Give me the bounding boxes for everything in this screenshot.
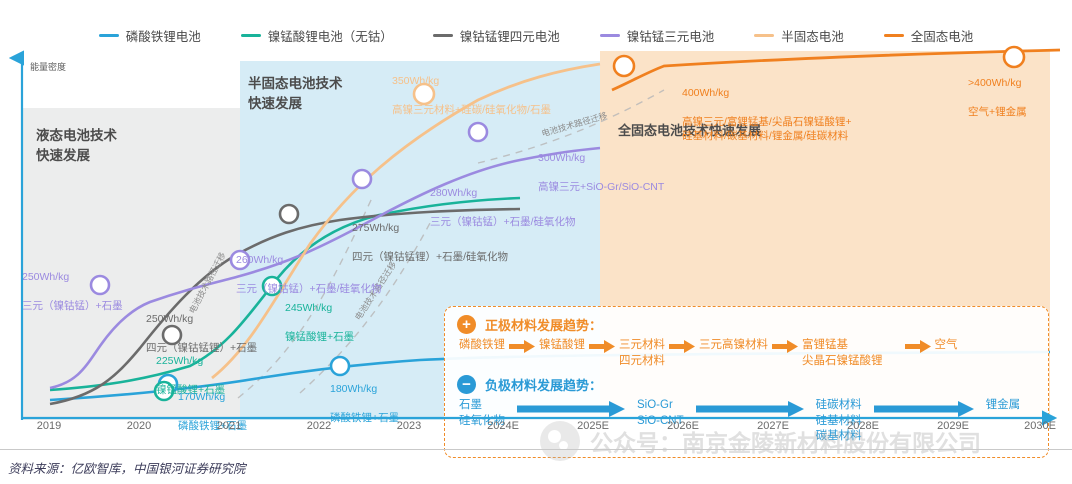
legend-swatch-allsolid xyxy=(884,34,904,37)
point-label-semisolid-2024: 350Wh/kg 高镍三元材料+硅碳/硅氧化物/石墨 xyxy=(392,60,551,131)
cathode-step-5: 富锂锰基 尖晶石镍锰酸锂 xyxy=(802,338,883,369)
legend-item-quaternary[interactable]: 镍钴锰锂四元电池 xyxy=(433,26,560,45)
point-material-ncm-2025: 高镍三元+SiO-Gr/SiO-CNT xyxy=(538,180,664,194)
x-tick-2021: 2021 xyxy=(217,420,241,432)
cathode-step-3: 三元材料 四元材料 xyxy=(619,338,665,369)
legend-swatch-quaternary xyxy=(433,34,453,37)
point-material-ncm-2023: 三元（镍钴锰）+石墨/硅氧化物 xyxy=(430,215,576,229)
point-value-lfp-2024: 180Wh/kg xyxy=(330,382,399,396)
anode-trend-title: 负极材料发展趋势： xyxy=(485,375,602,394)
arrow-right-icon-c2 xyxy=(589,340,615,358)
point-material-semisolid-2024: 高镍三元材料+硅碳/硅氧化物/石墨 xyxy=(392,103,551,117)
legend-label-lnmo: 镍锰酸锂电池（无钴） xyxy=(268,26,393,45)
cathode-trend-header: + 正极材料发展趋势： xyxy=(457,315,1036,334)
minus-icon: − xyxy=(457,375,476,394)
x-tick-2026E: 2026E xyxy=(667,420,699,432)
legend-swatch-lnmo xyxy=(241,34,261,37)
point-value-lnmo-2021: 225Wh/kg xyxy=(156,354,225,368)
point-value-allsolid-2026: 400Wh/kg xyxy=(682,86,851,100)
x-tick-2028E: 2028E xyxy=(847,420,879,432)
point-label-allsolid-2030: >400Wh/kg 空气+锂金属 xyxy=(968,62,1027,133)
arrow-right-icon-c5 xyxy=(905,340,931,358)
legend-label-allsolid: 全固态电池 xyxy=(911,26,974,45)
point-value-semisolid-2024: 350Wh/kg xyxy=(392,74,551,88)
point-material-allsolid-2030: 空气+锂金属 xyxy=(968,105,1027,119)
point-material-lnmo-2022: 镍锰酸锂+石墨 xyxy=(285,330,354,344)
point-value-lnmo-2022: 245Wh/kg xyxy=(285,301,354,315)
arrow-right-icon-c4 xyxy=(772,340,798,358)
point-material-allsolid-2026: 高镍三元/富锂锰基/尖晶石镍锰酸锂+ 硅基材料/碳基材料/锂金属/硅碳材料 xyxy=(682,115,851,143)
point-value-quaternary-2021: 250Wh/kg xyxy=(146,312,257,326)
x-tick-2024E: 2024E xyxy=(487,420,519,432)
legend-item-allsolid[interactable]: 全固态电池 xyxy=(884,26,974,45)
x-tick-2027E: 2027E xyxy=(757,420,789,432)
arrow-right-icon-c1 xyxy=(509,340,535,358)
legend-item-lnmo[interactable]: 镍锰酸锂电池（无钴） xyxy=(241,26,393,45)
legend-swatch-semisolid xyxy=(754,34,774,37)
point-value-allsolid-2030: >400Wh/kg xyxy=(968,76,1027,90)
cathode-chain: 磷酸铁锂 镍锰酸锂 三元材料 四元材料 三元高镍材料 富锂锰基 尖晶石镍锰酸锂 xyxy=(459,338,1036,369)
y-axis-label: 能量密度 xyxy=(30,60,66,73)
cathode-step-2: 镍锰酸锂 xyxy=(539,338,585,354)
plot-area: 液态电池技术 快速发展 半固态电池技术 快速发展 全固态电池技术快速发展 xyxy=(0,48,1072,420)
legend-swatch-ncm xyxy=(600,34,620,37)
point-material-quaternary-2022: 四元（镍钴锰锂）+石墨/硅氧化物 xyxy=(352,250,508,264)
legend-label-lfp: 磷酸铁锂电池 xyxy=(126,26,201,45)
marker-allsolid-2026 xyxy=(614,56,634,76)
chart-legend: 磷酸铁锂电池 镍锰酸锂电池（无钴） 镍钴锰锂四元电池 镍钴锰三元电池 半固态电池… xyxy=(0,22,1072,48)
x-tick-2023: 2023 xyxy=(397,420,421,432)
source-note: 资料来源：亿欧智库，中国银河证券研究院 xyxy=(8,458,246,477)
y-axis xyxy=(0,48,60,420)
anode-trend-header: − 负极材料发展趋势： xyxy=(457,375,1036,394)
x-tick-2030E: 2030E xyxy=(1024,420,1056,432)
arrow-right-icon-c3 xyxy=(669,340,695,358)
cathode-step-4: 三元高镍材料 xyxy=(699,338,768,354)
chart-root: 磷酸铁锂电池 镍锰酸锂电池（无钴） 镍钴锰锂四元电池 镍钴锰三元电池 半固态电池… xyxy=(0,0,1072,484)
point-value-lfp-2022: 170Wh/kg xyxy=(178,390,247,404)
marker-ncm-2023 xyxy=(353,170,371,188)
legend-label-quaternary: 镍钴锰锂四元电池 xyxy=(460,26,560,45)
x-tick-2025E: 2025E xyxy=(577,420,609,432)
cathode-step-6: 空气 xyxy=(935,338,958,354)
point-label-allsolid-2026: 400Wh/kg 高镍三元/富锂锰基/尖晶石镍锰酸锂+ 硅基材料/碳基材料/锂金… xyxy=(682,72,851,157)
x-tick-2029E: 2029E xyxy=(937,420,969,432)
marker-quaternary-2022 xyxy=(280,205,298,223)
legend-item-lfp[interactable]: 磷酸铁锂电池 xyxy=(99,26,201,45)
legend-label-semisolid: 半固态电池 xyxy=(781,26,844,45)
cathode-step-1: 磷酸铁锂 xyxy=(459,338,505,354)
legend-swatch-lfp xyxy=(99,34,119,37)
x-tick-2019: 2019 xyxy=(37,420,61,432)
x-tick-2022: 2022 xyxy=(307,420,331,432)
point-value-ncm-2025: 300Wh/kg xyxy=(538,151,664,165)
legend-item-ncm[interactable]: 镍钴锰三元电池 xyxy=(600,26,715,45)
plus-icon: + xyxy=(457,315,476,334)
legend-label-ncm: 镍钴锰三元电池 xyxy=(627,26,715,45)
legend-item-semisolid[interactable]: 半固态电池 xyxy=(754,26,844,45)
x-axis-ticks: 2019 2020 2021 2022 2023 2024E 2025E 202… xyxy=(0,420,1072,440)
footer-divider xyxy=(0,449,1072,450)
point-label-ncm-2025: 300Wh/kg 高镍三元+SiO-Gr/SiO-CNT xyxy=(538,137,664,208)
point-label-lnmo-2022: 245Wh/kg 镍锰酸锂+石墨 xyxy=(285,287,354,358)
cathode-trend-title: 正极材料发展趋势： xyxy=(485,315,602,334)
x-tick-2020: 2020 xyxy=(127,420,151,432)
